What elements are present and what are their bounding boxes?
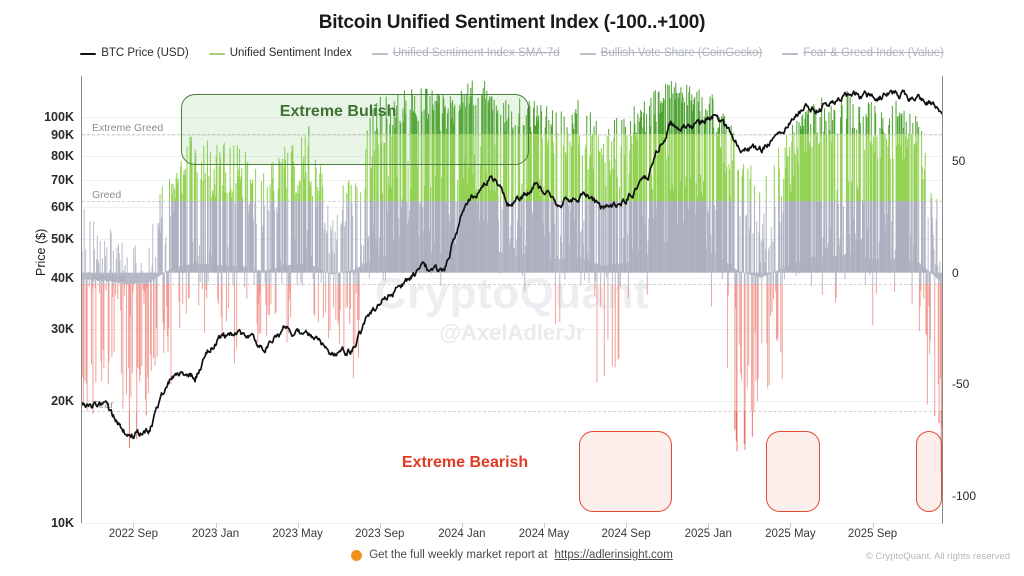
legend-swatch-icon <box>782 53 798 55</box>
price-gridline <box>82 523 942 524</box>
x-axis-tick-7: 2025 Jan <box>685 528 732 540</box>
left-axis-title: Price ($) <box>34 229 48 276</box>
x-axis-tick-5: 2024 May <box>519 528 570 540</box>
legend-item-label: Bullish Vote Share (CoinGecko) <box>601 48 763 60</box>
x-axis-tickmark <box>133 523 134 528</box>
right-axis-tick--100: -100 <box>952 489 976 503</box>
x-axis-tickmark <box>380 523 381 528</box>
x-axis-tickmark <box>216 523 217 528</box>
legend-swatch-icon <box>209 53 225 55</box>
copyright-notice: © CryptoQuant. All rights reserved <box>866 551 1010 562</box>
legend-item-label: BTC Price (USD) <box>101 48 189 60</box>
legend-item-0[interactable]: BTC Price (USD) <box>80 48 189 60</box>
footer-report-link[interactable]: https://adlerinsight.com <box>555 549 673 561</box>
x-axis-tickmark <box>462 523 463 528</box>
x-axis-tickmark <box>298 523 299 528</box>
legend-swatch-icon <box>372 53 388 55</box>
annotation-label-extreme-bullish: Extreme Bulish <box>280 103 396 121</box>
left-axis-tick-20K: 20K <box>51 394 74 408</box>
right-axis-tick--50: -50 <box>952 377 969 391</box>
left-axis-tick-70K: 70K <box>51 173 74 187</box>
x-axis-tick-1: 2023 Jan <box>192 528 239 540</box>
legend-item-1[interactable]: Unified Sentiment Index <box>209 48 352 60</box>
left-axis-tick-90K: 90K <box>51 128 74 142</box>
x-axis-tick-3: 2023 Sep <box>355 528 404 540</box>
x-axis-tickmark <box>873 523 874 528</box>
right-axis-tick-50: 50 <box>952 154 965 168</box>
left-axis-tick-100K: 100K <box>44 110 74 124</box>
x-axis-tickmark <box>790 523 791 528</box>
x-axis-tick-2: 2023 May <box>272 528 323 540</box>
page-title: Bitcoin Unified Sentiment Index (-100..+… <box>0 12 1024 34</box>
legend-item-label: Unified Sentiment Index <box>230 48 352 60</box>
x-axis-tickmark <box>626 523 627 528</box>
left-axis-tick-80K: 80K <box>51 149 74 163</box>
legend-item-2[interactable]: Unified Sentiment Index SMA-7d <box>372 48 560 60</box>
legend-swatch-icon <box>580 53 596 55</box>
chart-legend: BTC Price (USD)Unified Sentiment IndexUn… <box>0 48 1024 60</box>
left-axis-tick-60K: 60K <box>51 200 74 214</box>
x-axis-tickmark <box>708 523 709 528</box>
plot-area: Price ($) Unified Sentiment Index Crypto… <box>82 76 942 523</box>
bitcoin-dot-icon <box>351 550 362 561</box>
left-axis-tick-40K: 40K <box>51 271 74 285</box>
x-axis-tick-9: 2025 Sep <box>848 528 897 540</box>
right-axis-line <box>942 76 943 523</box>
right-axis-tick-0: 0 <box>952 266 959 280</box>
left-axis-tick-50K: 50K <box>51 232 74 246</box>
legend-swatch-icon <box>80 53 96 55</box>
left-axis-tick-10K: 10K <box>51 516 74 530</box>
x-axis-tick-8: 2025 May <box>765 528 816 540</box>
legend-item-label: Unified Sentiment Index SMA-7d <box>393 48 560 60</box>
x-axis-tickmark <box>544 523 545 528</box>
legend-item-4[interactable]: Fear & Greed Index (Value) <box>782 48 943 60</box>
chart-root: Bitcoin Unified Sentiment Index (-100..+… <box>0 0 1024 576</box>
x-axis-tick-4: 2024 Jan <box>438 528 485 540</box>
x-axis-tick-0: 2022 Sep <box>109 528 158 540</box>
left-axis-tick-30K: 30K <box>51 322 74 336</box>
footer-cta-text: Get the full weekly market report at <box>369 549 547 561</box>
x-axis-tick-6: 2024 Sep <box>602 528 651 540</box>
legend-item-label: Fear & Greed Index (Value) <box>803 48 943 60</box>
annotation-label-extreme-bearish-label: Extreme Bearish <box>402 454 528 472</box>
legend-item-3[interactable]: Bullish Vote Share (CoinGecko) <box>580 48 763 60</box>
